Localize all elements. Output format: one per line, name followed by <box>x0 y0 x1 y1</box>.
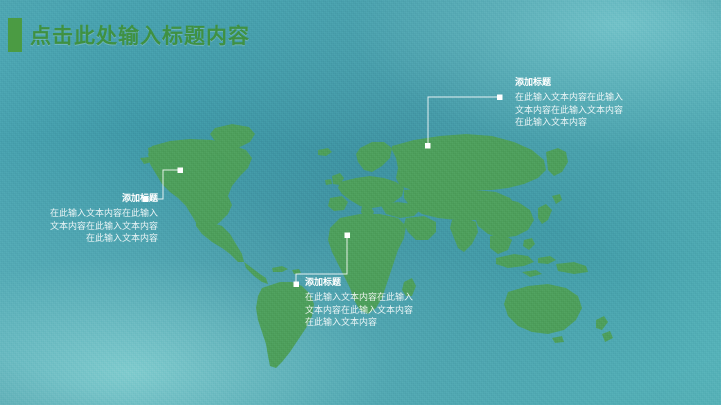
title-accent-bar <box>8 18 22 52</box>
callout-top-right-heading[interactable]: 添加标题 <box>515 77 623 90</box>
callout-bottom-line-2[interactable]: 文本内容在此输入文本内容 <box>305 305 413 318</box>
map-landmasses <box>140 124 613 368</box>
callout-bottom-line-3[interactable]: 在此输入文本内容 <box>305 317 413 330</box>
callout-left-line-2[interactable]: 文本内容在此输入文本内容 <box>8 221 158 234</box>
callout-bottom[interactable]: 添加标题 在此输入文本内容在此输入 文本内容在此输入文本内容 在此输入文本内容 <box>305 277 413 330</box>
callout-bottom-line-1[interactable]: 在此输入文本内容在此输入 <box>305 292 413 305</box>
callout-left[interactable]: 添加标题 在此输入文本内容在此输入 文本内容在此输入文本内容 在此输入文本内容 <box>8 193 158 246</box>
callout-top-right-line-3[interactable]: 在此输入文本内容 <box>515 117 623 130</box>
callout-bottom-heading[interactable]: 添加标题 <box>305 277 413 290</box>
callout-top-right-line-2[interactable]: 文本内容在此输入文本内容 <box>515 105 623 118</box>
callout-top-right-line-1[interactable]: 在此输入文本内容在此输入 <box>515 92 623 105</box>
callout-top-right[interactable]: 添加标题 在此输入文本内容在此输入 文本内容在此输入文本内容 在此输入文本内容 <box>515 77 623 130</box>
callout-left-heading[interactable]: 添加标题 <box>8 193 158 206</box>
callout-left-line-1[interactable]: 在此输入文本内容在此输入 <box>8 208 158 221</box>
page-title[interactable]: 点击此处输入标题内容 <box>30 20 250 50</box>
slide-canvas: 点击此处输入标题内容 添加标题 在此输入文本内容在此输入 文本内容在此输入文本内… <box>0 0 721 405</box>
callout-left-line-3[interactable]: 在此输入文本内容 <box>8 233 158 246</box>
